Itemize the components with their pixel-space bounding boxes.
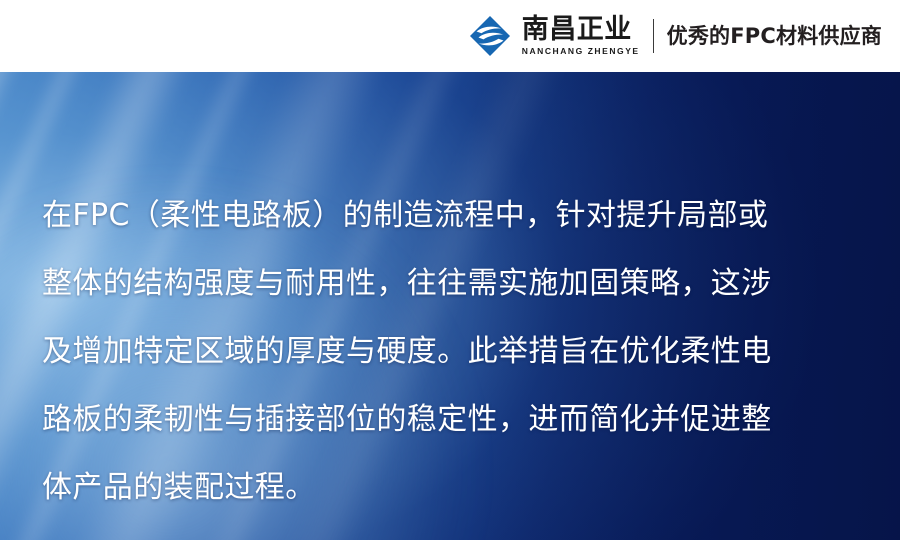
- brand-name-en: NANCHANG ZHENGYE: [522, 47, 640, 56]
- body-text-line: 体产品的装配过程。: [42, 454, 872, 522]
- body-text-line: 整体的结构强度与耐用性，往往需实施加固策略，这涉: [42, 250, 872, 318]
- page-header: 南昌正业 NANCHANG ZHENGYE 优秀的FPC材料供应商: [0, 0, 900, 72]
- brand-tagline: 优秀的FPC材料供应商: [667, 26, 882, 47]
- body-text-line: 在FPC（柔性电路板）的制造流程中，针对提升局部或: [42, 182, 872, 250]
- banner-body-text: 在FPC（柔性电路板）的制造流程中，针对提升局部或 整体的结构强度与耐用性，往往…: [42, 182, 872, 522]
- banner-page: 南昌正业 NANCHANG ZHENGYE 优秀的FPC材料供应商 在FPC（柔…: [0, 0, 900, 540]
- body-text-line: 路板的柔韧性与插接部位的稳定性，进而简化并促进整: [42, 386, 872, 454]
- banner-panel: 在FPC（柔性电路板）的制造流程中，针对提升局部或 整体的结构强度与耐用性，往往…: [0, 72, 900, 540]
- diamond-swirl-logo-icon: [467, 13, 513, 59]
- brand-name-cn: 南昌正业: [522, 16, 640, 43]
- brand-lockup[interactable]: 南昌正业 NANCHANG ZHENGYE 优秀的FPC材料供应商: [467, 0, 882, 72]
- body-text-line: 及增加特定区域的厚度与硬度。此举措旨在优化柔性电: [42, 318, 872, 386]
- brand-divider: [653, 19, 654, 53]
- brand-wordmark: 南昌正业 NANCHANG ZHENGYE: [522, 16, 640, 56]
